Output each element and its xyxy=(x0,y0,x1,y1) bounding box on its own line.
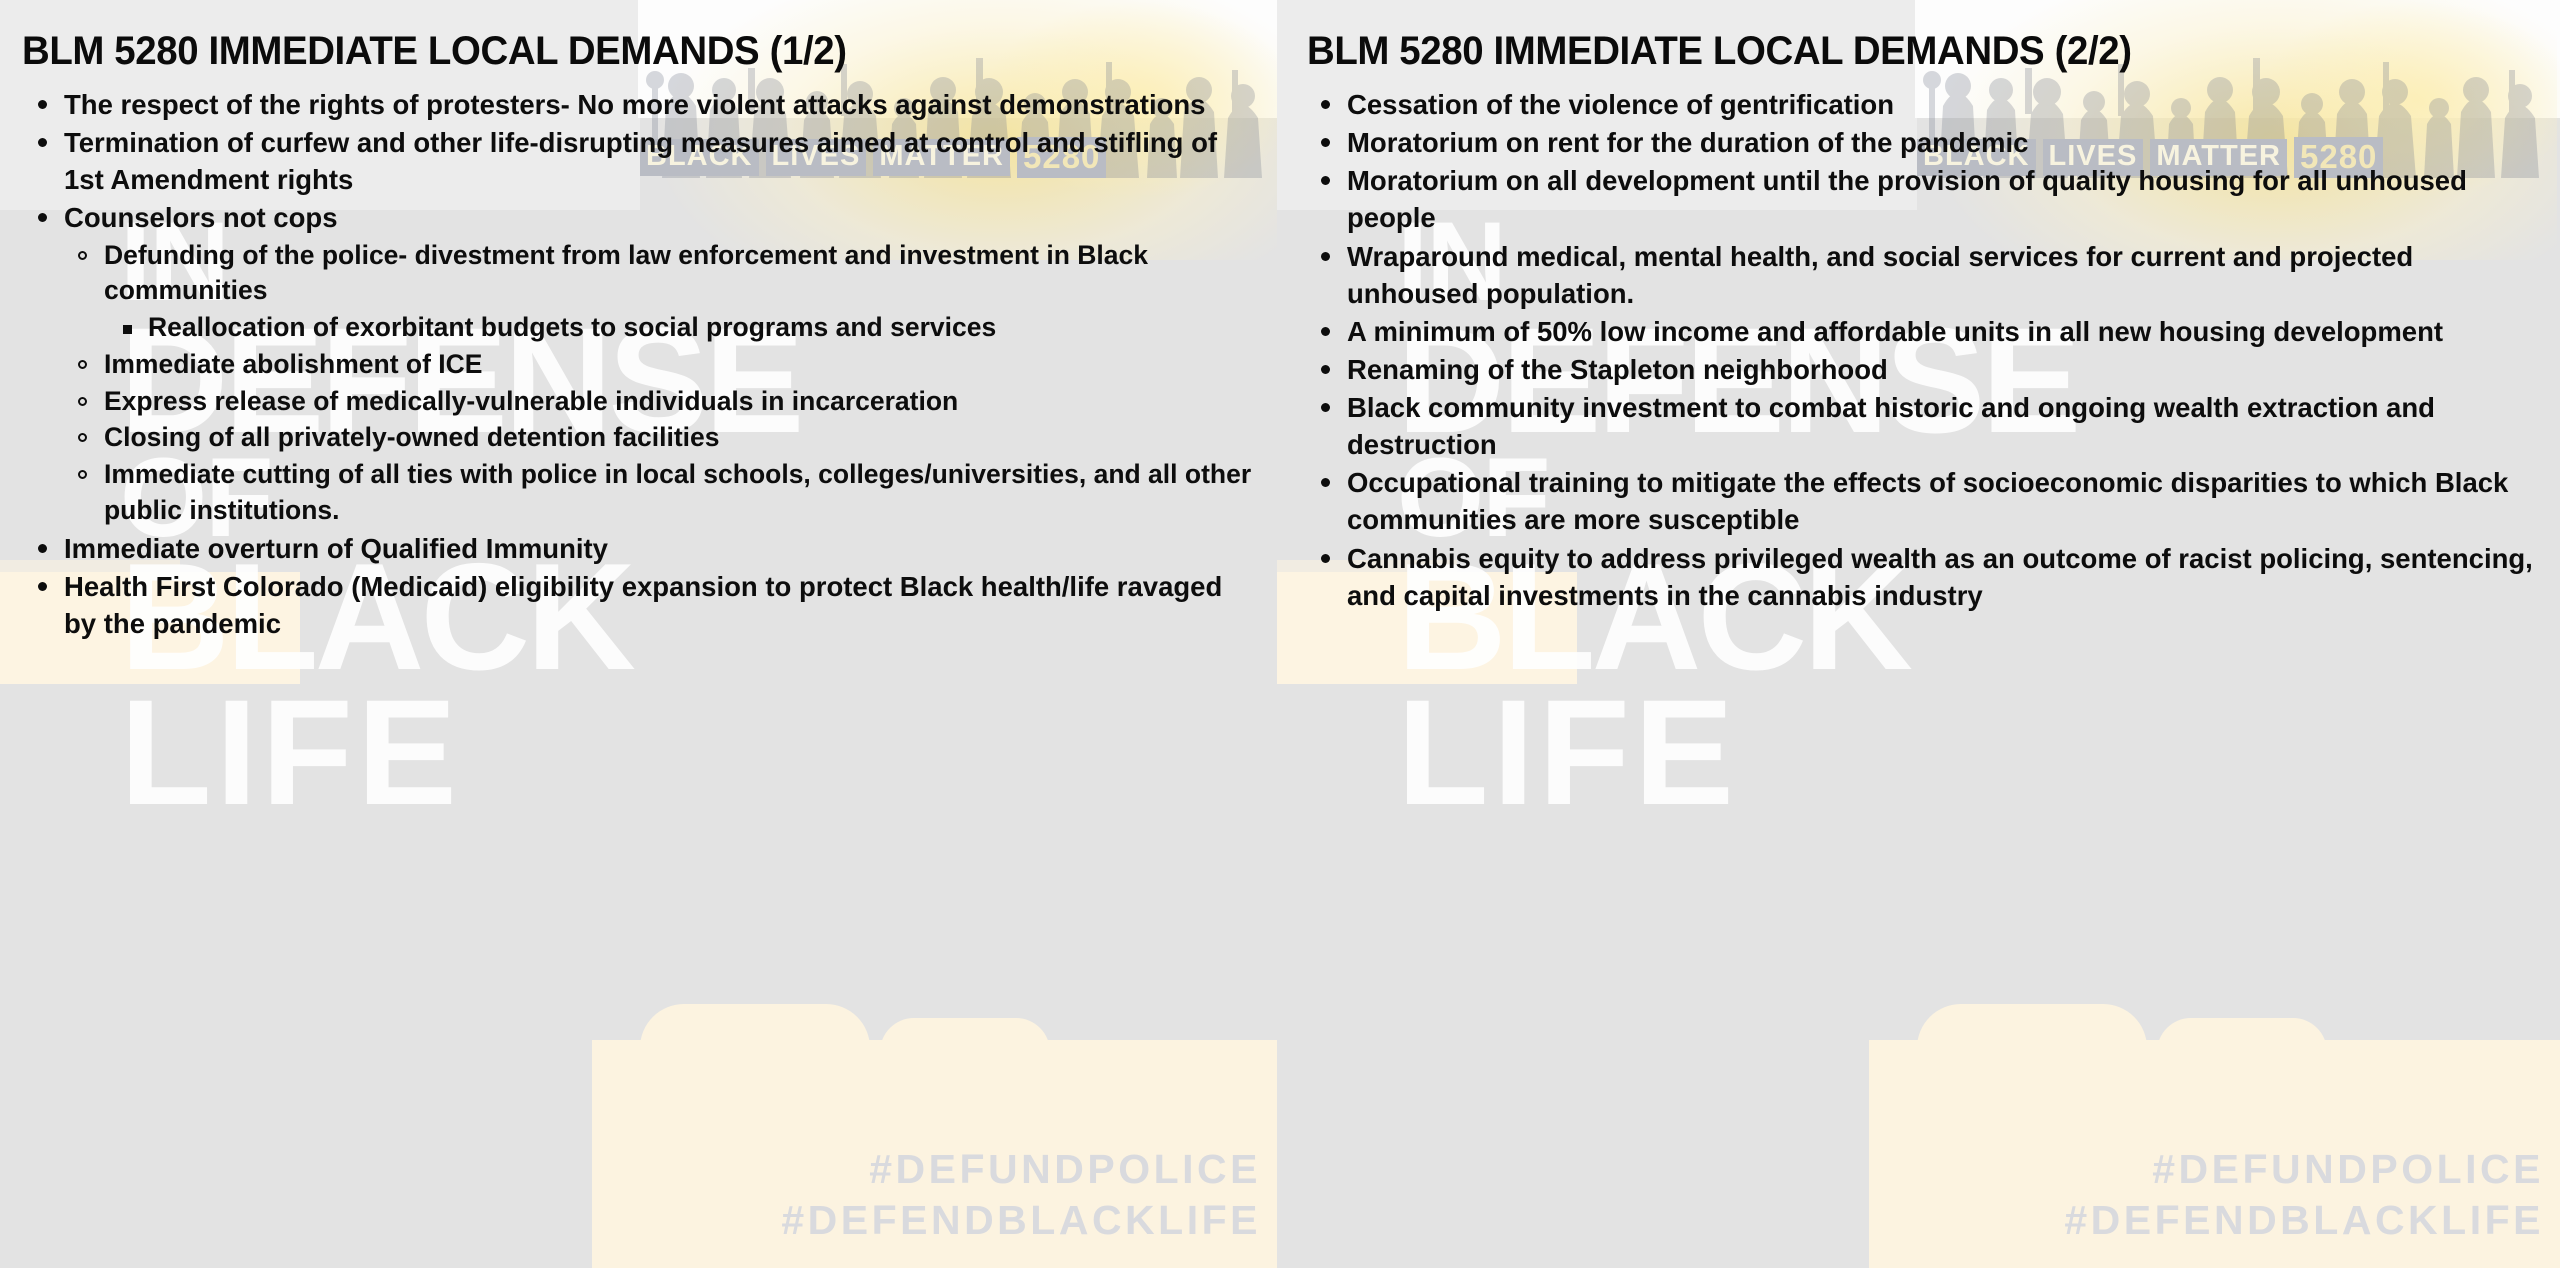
list-item-text: Occupational training to mitigate the ef… xyxy=(1347,467,2508,535)
watermark-line-life: LIFE xyxy=(120,685,1277,820)
slide-1: BLACK LIVES MATTER 5280 IN DEFENSE OF BL… xyxy=(0,0,1277,1268)
list-item: Counselors not cops xyxy=(30,199,1253,236)
list-item-text: Cessation of the violence of gentrificat… xyxy=(1347,89,1894,120)
list-item-text: Renaming of the Stapleton neighborhood xyxy=(1347,354,1888,385)
list-item-text: Immediate abolishment of ICE xyxy=(104,349,482,379)
slide-2-demand-list: Cessation of the violence of gentrificat… xyxy=(1305,86,2536,614)
list-item: Immediate abolishment of ICE xyxy=(70,347,1253,383)
list-item-text: Express release of medically-vulnerable … xyxy=(104,386,958,416)
list-item-text: Moratorium on rent for the duration of t… xyxy=(1347,127,2028,158)
list-item-text: Moratorium on all development until the … xyxy=(1347,165,2467,233)
list-item-text: Wraparound medical, mental health, and s… xyxy=(1347,241,2413,309)
hashtag-defundpolice: #DEFUNDPOLICE xyxy=(781,1144,1261,1195)
list-item: A minimum of 50% low income and affordab… xyxy=(1313,313,2536,350)
list-item: Immediate cutting of all ties with polic… xyxy=(70,457,1253,529)
list-item-text: Closing of all privately-owned detention… xyxy=(104,422,719,452)
list-item-text: Immediate overturn of Qualified Immunity xyxy=(64,533,608,564)
hashtag-watermark-group: #DEFUNDPOLICE #DEFENDBLACKLIFE xyxy=(2064,1144,2544,1247)
list-item-text: The respect of the rights of protesters-… xyxy=(64,89,1205,120)
slide-2-content: BLM 5280 IMMEDIATE LOCAL DEMANDS (2/2) C… xyxy=(1277,0,2560,614)
list-item: Moratorium on rent for the duration of t… xyxy=(1313,124,2536,161)
list-item: Health First Colorado (Medicaid) eligibi… xyxy=(30,568,1253,642)
list-item-text: Defunding of the police- divestment from… xyxy=(104,240,1148,306)
list-item: Wraparound medical, mental health, and s… xyxy=(1313,238,2536,312)
list-item-text: Health First Colorado (Medicaid) eligibi… xyxy=(64,571,1222,639)
list-item: The respect of the rights of protesters-… xyxy=(30,86,1253,123)
list-item-text: Immediate cutting of all ties with polic… xyxy=(104,459,1251,525)
list-item: Occupational training to mitigate the ef… xyxy=(1313,464,2536,538)
list-item-text: Reallocation of exorbitant budgets to so… xyxy=(148,312,996,342)
list-item: Defunding of the police- divestment from… xyxy=(70,238,1253,310)
slide-1-content: BLM 5280 IMMEDIATE LOCAL DEMANDS (1/2) T… xyxy=(0,0,1277,642)
list-item-text: Cannabis equity to address privileged we… xyxy=(1347,543,2533,611)
slide-2: BLACK LIVES MATTER 5280 IN DEFENSE OF BL… xyxy=(1277,0,2560,1268)
slide-1-title: BLM 5280 IMMEDIATE LOCAL DEMANDS (1/2) xyxy=(22,30,1204,72)
list-item-text: Black community investment to combat his… xyxy=(1347,392,2435,460)
list-item: Cannabis equity to address privileged we… xyxy=(1313,540,2536,614)
slide-deck: BLACK LIVES MATTER 5280 IN DEFENSE OF BL… xyxy=(0,0,2560,1268)
list-item: Termination of curfew and other life-dis… xyxy=(30,124,1253,198)
list-item: Closing of all privately-owned detention… xyxy=(70,420,1253,456)
hashtag-defendblacklife: #DEFENDBLACKLIFE xyxy=(2064,1195,2544,1246)
slide-1-demand-list: The respect of the rights of protesters-… xyxy=(22,86,1253,642)
hashtag-defendblacklife: #DEFENDBLACKLIFE xyxy=(781,1195,1261,1246)
list-item: Cessation of the violence of gentrificat… xyxy=(1313,86,2536,123)
list-item: Immediate overturn of Qualified Immunity xyxy=(30,530,1253,567)
hashtag-defundpolice: #DEFUNDPOLICE xyxy=(2064,1144,2544,1195)
list-item-text: Termination of curfew and other life-dis… xyxy=(64,127,1217,195)
hashtag-watermark-group: #DEFUNDPOLICE #DEFENDBLACKLIFE xyxy=(781,1144,1261,1247)
list-item-text: A minimum of 50% low income and affordab… xyxy=(1347,316,2443,347)
list-item: Black community investment to combat his… xyxy=(1313,389,2536,463)
list-item: Moratorium on all development until the … xyxy=(1313,162,2536,236)
list-item: Express release of medically-vulnerable … xyxy=(70,384,1253,420)
list-item: Reallocation of exorbitant budgets to so… xyxy=(114,310,1253,346)
watermark-line-life: LIFE xyxy=(1397,685,2557,820)
list-item: Renaming of the Stapleton neighborhood xyxy=(1313,351,2536,388)
slide-2-title: BLM 5280 IMMEDIATE LOCAL DEMANDS (2/2) xyxy=(1307,30,2487,72)
list-item-text: Counselors not cops xyxy=(64,202,338,233)
